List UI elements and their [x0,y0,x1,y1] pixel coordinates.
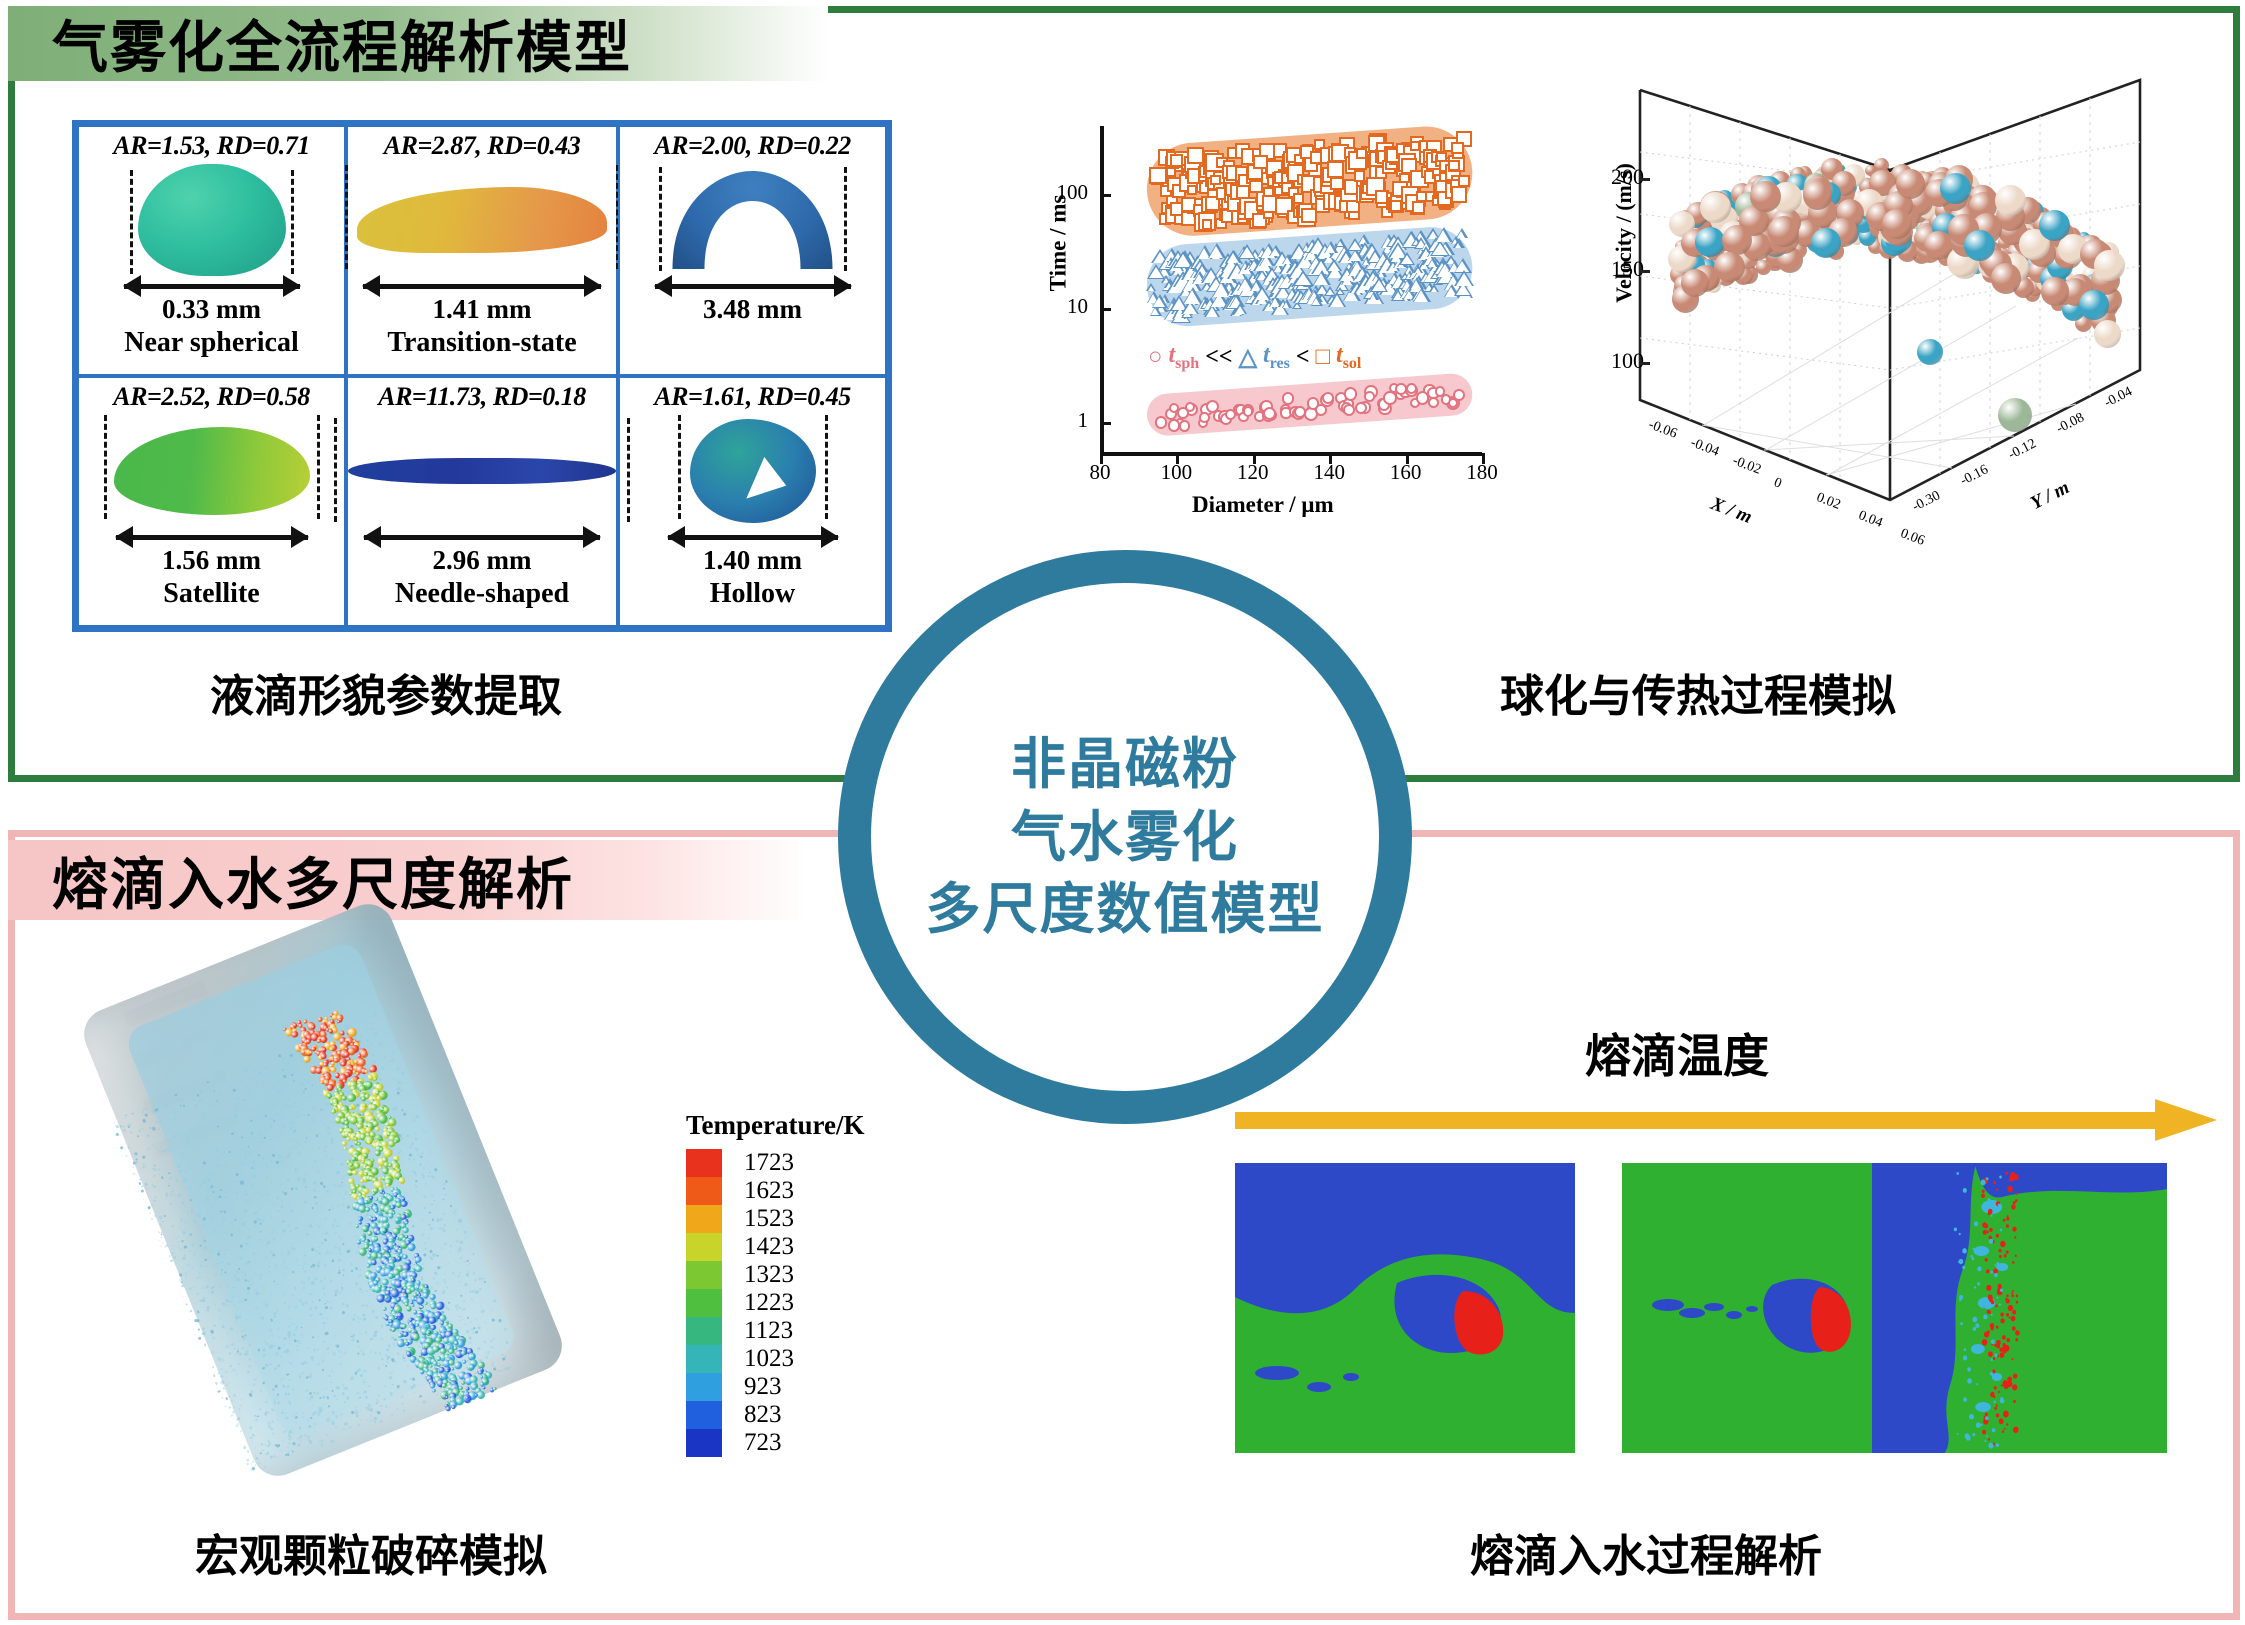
chart3d-particle [1896,169,1926,199]
badge-line-3: 多尺度数值模型 [925,873,1324,946]
velocity-3d-chart: Velocity / (m/s) 100150200 X / mY / m-0.… [1560,70,2200,600]
spray-particle [297,1354,299,1356]
table-cell-transition-state: AR=2.87, RD=0.43 1.41 mm Transition-stat… [346,125,618,376]
spray-particle [266,1244,269,1247]
spray-particle [261,1135,263,1137]
spray-particle [312,1300,315,1303]
spray-particle [196,1292,200,1296]
spray-particle [127,1146,130,1149]
jet-particle [339,1030,345,1036]
spray-particle [295,1412,297,1414]
spray-particle [270,1293,273,1296]
spray-particle [458,1219,462,1223]
temperature-swatch [686,1177,722,1205]
spray-particle [217,1372,220,1375]
chart-data-point [1311,295,1323,306]
spray-particle [142,1119,146,1123]
spray-particle [345,1304,349,1308]
spray-particle [298,1375,301,1378]
chart-data-point [1412,201,1425,214]
spray-particle [254,1362,256,1364]
spray-particle [285,1412,288,1415]
chart3d-particle [1700,192,1731,223]
spray-particle [321,1317,323,1319]
spray-particle [278,1335,280,1337]
spray-particle [207,1179,211,1183]
spray-particle [313,1423,316,1426]
spray-particle [219,1164,222,1167]
spray-particle [204,1174,207,1177]
spray-particle [257,1349,260,1352]
spray-particle [258,1154,260,1156]
jet-particle [374,1125,380,1131]
chart-x-tickmark [1406,453,1409,464]
spray-particle [330,1381,332,1383]
spray-particle [200,1145,204,1149]
chart3d-particle [1882,209,1912,239]
spray-particle [285,1266,288,1269]
spray-particle [210,1291,214,1295]
spray-particle [288,1326,290,1328]
spray-particle [275,1147,277,1149]
spray-particle [247,1343,251,1347]
spray-particle [205,1210,209,1214]
spray-particle [230,1365,232,1367]
chart-data-point [1179,420,1191,432]
spray-particle [221,1338,223,1340]
triangle-fill [1457,231,1465,238]
spray-particle [492,1305,493,1306]
spray-particle [272,1409,275,1412]
spray-particle [219,1367,223,1371]
spray-particle [264,1412,268,1416]
triangle-fill [1370,294,1376,300]
jet-particle [462,1359,468,1365]
spray-particle [171,1252,174,1255]
spray-particle [220,1154,223,1157]
jet-particle [406,1242,417,1253]
spray-particle [149,1132,151,1134]
spray-particle [270,1201,273,1204]
spray-particle [257,1102,261,1106]
spray-particle [358,1346,360,1348]
spray-particle [326,1418,330,1422]
spray-particle [161,1176,164,1179]
spray-particle [291,1322,294,1325]
spray-particle [225,1248,227,1250]
spray-particle [283,1378,284,1379]
spray-particle [246,1458,250,1462]
spray-particle [276,1352,279,1355]
cell-size-label: 1.56 mm [162,545,261,576]
chart3d-particle [2041,277,2069,305]
spray-particle [159,1120,162,1123]
spray-particle [341,1392,344,1395]
spray-particle [229,1084,231,1086]
spray-particle [171,1190,174,1193]
spray-particle [280,1253,283,1256]
triangle-fill [1431,287,1437,292]
spray-particle [115,1125,119,1129]
spray-particle [152,1144,155,1147]
melt-frame-canvas [1235,1163,1575,1453]
spray-particle [120,1145,124,1149]
spray-particle [225,1141,226,1142]
jet-particle [366,1263,371,1268]
spray-particle [164,1244,168,1248]
spray-particle [287,1137,289,1139]
spray-particle [212,1206,214,1208]
spray-particle [239,1430,242,1433]
spray-particle [304,1173,307,1176]
spray-particle [225,1397,228,1400]
spray-particle [274,1345,275,1346]
spray-particle [188,1117,190,1119]
spray-particle [290,1362,293,1365]
chart-data-point [1146,283,1156,291]
chart-data-point [1364,391,1374,401]
spray-particle [167,1112,169,1114]
spray-particle [248,1354,250,1356]
spray-particle [443,1183,446,1186]
spray-particle [276,1419,278,1421]
spray-particle [290,1164,292,1166]
spray-particle [224,1162,227,1165]
spray-particle [287,1392,291,1396]
spray-particle [212,1366,214,1368]
spray-particle [168,1255,171,1258]
spray-particle [237,1198,239,1200]
spray-particle [384,1405,387,1408]
spray-particle [352,1333,356,1337]
spray-particle [292,1442,296,1446]
spray-particle [324,1231,328,1235]
spray-particle [242,1199,244,1201]
spray-particle [219,1261,221,1263]
spray-particle [401,1071,404,1074]
spray-particle [177,1164,181,1168]
spray-particle [317,1265,320,1268]
spray-particle [323,1321,326,1324]
legend-tsol-label: tsol [1336,342,1361,373]
triangle-fill [1255,289,1269,300]
spray-particle [214,1382,217,1385]
spray-particle [203,1304,204,1305]
spray-particle [222,1387,225,1390]
spray-particle [514,1359,517,1362]
spray-particle [211,1129,213,1131]
spray-particle [360,1373,364,1377]
spray-particle [190,1166,192,1168]
spray-particle [183,1295,185,1297]
spray-particle [217,1101,221,1105]
spray-particle [125,1155,127,1157]
spray-particle [375,1402,378,1405]
temperature-value: 1123 [744,1317,793,1345]
cell-ar-rd-label: AR=2.87, RD=0.43 [384,131,580,161]
spray-particle [391,1414,394,1417]
chart-legend: ○ tsph << △ tres < □ tsol [1148,342,1361,373]
chart3d-particle [1998,398,2032,432]
spray-particle [369,1414,372,1417]
chart3d-particle [1991,263,2021,293]
spray-particle [193,1254,195,1256]
time-vs-diameter-chart: Time / ms 11010080100120140160180 ○ tsph… [1040,110,1510,510]
spray-particle [225,1157,227,1159]
temperature-colorbar-legend: Temperature/K 17231623152314231323122311… [686,1110,886,1457]
spray-particle [270,1319,273,1322]
spray-particle [308,1420,310,1422]
melt-temperature-arrow [1235,1105,2220,1135]
spray-particle [247,1462,250,1465]
spray-particle [239,1257,242,1260]
temperature-legend-row: 1323 [686,1261,886,1289]
spray-particle [292,1388,295,1391]
table-cell-near-spherical: AR=1.53, RD=0.71 0.33 mm Near spherical [77,125,346,376]
spray-particle [153,1136,155,1138]
spray-particle [170,1202,173,1205]
spray-particle [305,1390,308,1393]
spray-particle [320,1439,324,1443]
spray-particle [301,1348,302,1349]
spray-particle [212,1336,215,1339]
top-section-banner: 气雾化全流程解析模型 [8,6,828,81]
spray-particle [142,1167,145,1170]
spray-particle [264,1466,266,1468]
spray-particle [363,1369,367,1373]
spray-particle [179,1247,182,1250]
spray-particle [318,1299,321,1302]
temperature-legend-row: 1723 [686,1149,886,1177]
spray-particle [219,1092,223,1096]
spray-particle [232,1394,236,1398]
spray-particle [310,1417,313,1420]
spray-particle [267,1299,269,1301]
spray-particle [174,1179,178,1183]
jet-particle [386,1183,391,1188]
spray-particle [209,1139,211,1141]
spray-particle [209,1187,212,1190]
spray-particle [257,1114,261,1118]
spray-particle [329,1306,333,1310]
spray-particle [247,1450,250,1453]
spray-particle [170,1193,172,1195]
jet-particle [445,1395,449,1399]
spray-particle [247,1086,251,1090]
spray-particle [230,1414,233,1417]
temperature-legend-row: 1623 [686,1177,886,1205]
spray-particle [289,1201,290,1202]
spray-particle [195,1242,197,1244]
spray-particle [322,1403,324,1405]
spray-particle [198,1150,199,1151]
spray-particle [213,1091,215,1093]
spray-particle [269,1199,270,1200]
spray-particle [157,1189,159,1191]
spray-particle [473,1253,475,1255]
chart-data-point [1448,160,1459,171]
chart-y-tickmark [1100,422,1111,425]
spray-particle [324,1293,326,1295]
spray-particle [357,1321,360,1324]
chart3d-particle [1768,216,1799,247]
spray-particle [351,1338,355,1342]
jet-particle [303,1055,311,1063]
spray-particle [436,1161,438,1163]
temperature-swatch [686,1261,722,1289]
spray-particle [240,1330,242,1332]
spray-particle [257,1462,260,1465]
spray-particle [186,1145,189,1148]
chart3d-particle [1803,180,1833,210]
spray-particle [269,1456,273,1460]
spray-particle [302,1260,306,1264]
spray-particle [330,1281,333,1284]
spray-particle [318,1364,320,1366]
spray-particle [153,1175,156,1178]
spray-particle [262,1113,263,1114]
spray-particle [261,1138,262,1139]
spray-particle [160,1134,162,1136]
spray-particle [275,1114,277,1116]
spray-particle [228,1151,230,1153]
spray-particle [183,1105,185,1107]
spray-particle [321,1242,323,1244]
chart-data-point [1199,412,1210,423]
spray-particle [212,1191,215,1194]
spray-particle [192,1178,193,1179]
spray-particle [356,1391,359,1394]
temperature-swatch [686,1149,722,1177]
cell-shape-name: Hollow [710,578,796,610]
spray-particle [301,1326,302,1327]
spray-particle [463,1230,467,1234]
spray-particle [282,1272,284,1274]
spray-particle [241,1399,243,1401]
spray-particle [130,1131,133,1134]
spray-particle [149,1221,150,1222]
spray-particle [255,1149,257,1151]
chart-data-point [1293,193,1304,204]
spray-particle [360,1419,362,1421]
spray-particle [236,1308,238,1310]
chart-y-tick: 1 [1046,408,1088,433]
spray-particle [153,1199,157,1203]
spray-particle [278,1137,281,1140]
spray-particle [288,1250,290,1252]
spray-particle [296,1187,298,1189]
spray-particle [287,1224,289,1226]
spray-particle [161,1243,163,1245]
spray-particle [309,1347,311,1349]
spray-particle [265,1303,269,1307]
spray-particle [188,1107,190,1109]
spray-particle [425,1131,427,1133]
spray-particle [251,1440,253,1442]
spray-particle [177,1241,180,1244]
spray-particle [251,1120,253,1122]
spray-particle [201,1286,204,1289]
spray-particle [282,1384,286,1388]
spray-particle [315,1202,319,1206]
spray-particle [290,1188,293,1191]
cell-size-label: 3.48 mm [703,294,802,325]
spray-particle [348,1426,352,1430]
spray-particle [279,1185,280,1186]
spray-particle [203,1084,205,1086]
spray-particle [213,1198,217,1202]
spray-particle [284,1191,288,1195]
spray-particle [127,1123,131,1127]
spray-particle [283,1301,287,1305]
spray-particle [207,1145,210,1148]
cell-shape-name: Needle-shaped [395,578,569,610]
spray-particle [276,1444,280,1448]
spray-particle [236,1374,238,1376]
spray-particle [189,1234,191,1236]
chart3d-particle [1750,181,1781,212]
spray-particle [445,1180,448,1183]
spray-particle [283,1344,285,1346]
spray-particle [237,1362,241,1366]
spray-particle [342,1269,345,1272]
spray-particle [396,1408,399,1411]
spray-particle [225,1196,227,1198]
spray-particle [240,1181,244,1185]
spray-particle [225,1406,227,1408]
spray-particle [318,1227,320,1229]
spray-particle [324,1278,327,1281]
spray-particle [195,1302,197,1304]
spray-particle [217,1166,219,1168]
spray-particle [154,1214,158,1218]
spray-particle [191,1207,194,1210]
spray-particle [172,1108,174,1110]
spray-particle [202,1181,206,1185]
spray-particle [243,1445,247,1449]
temperature-swatch [686,1401,722,1429]
spray-particle [189,1310,192,1313]
spray-particle [237,1136,238,1137]
droplet-morphology-table: AR=1.53, RD=0.71 0.33 mm Near spherical … [72,120,892,632]
spray-particle [174,1093,178,1097]
spray-particle [340,1413,343,1416]
spray-particle [276,1283,279,1286]
temperature-legend-row: 923 [686,1373,886,1401]
spray-particle [265,1115,267,1117]
spray-particle [246,1286,250,1290]
spray-particle [233,1304,236,1307]
spray-particle [214,1156,218,1160]
chart3d-particle [1964,230,1995,261]
spray-particle [315,1283,317,1285]
spray-particle [257,1124,259,1126]
spray-particle [248,1151,251,1154]
spray-particle [249,1107,253,1111]
spray-particle [243,1209,247,1213]
bottom-section-banner: 熔滴入水多尺度解析 [8,840,808,920]
spray-particle [207,1310,210,1313]
spray-particle [213,1161,214,1162]
spray-particle [305,1301,308,1304]
spray-particle [286,1178,290,1182]
spray-particle [203,1343,206,1346]
spray-particle [249,1076,253,1080]
spray-particle [273,1280,275,1282]
chart-data-point [1233,303,1247,314]
spray-particle [288,1342,290,1344]
spray-particle [295,1206,296,1207]
